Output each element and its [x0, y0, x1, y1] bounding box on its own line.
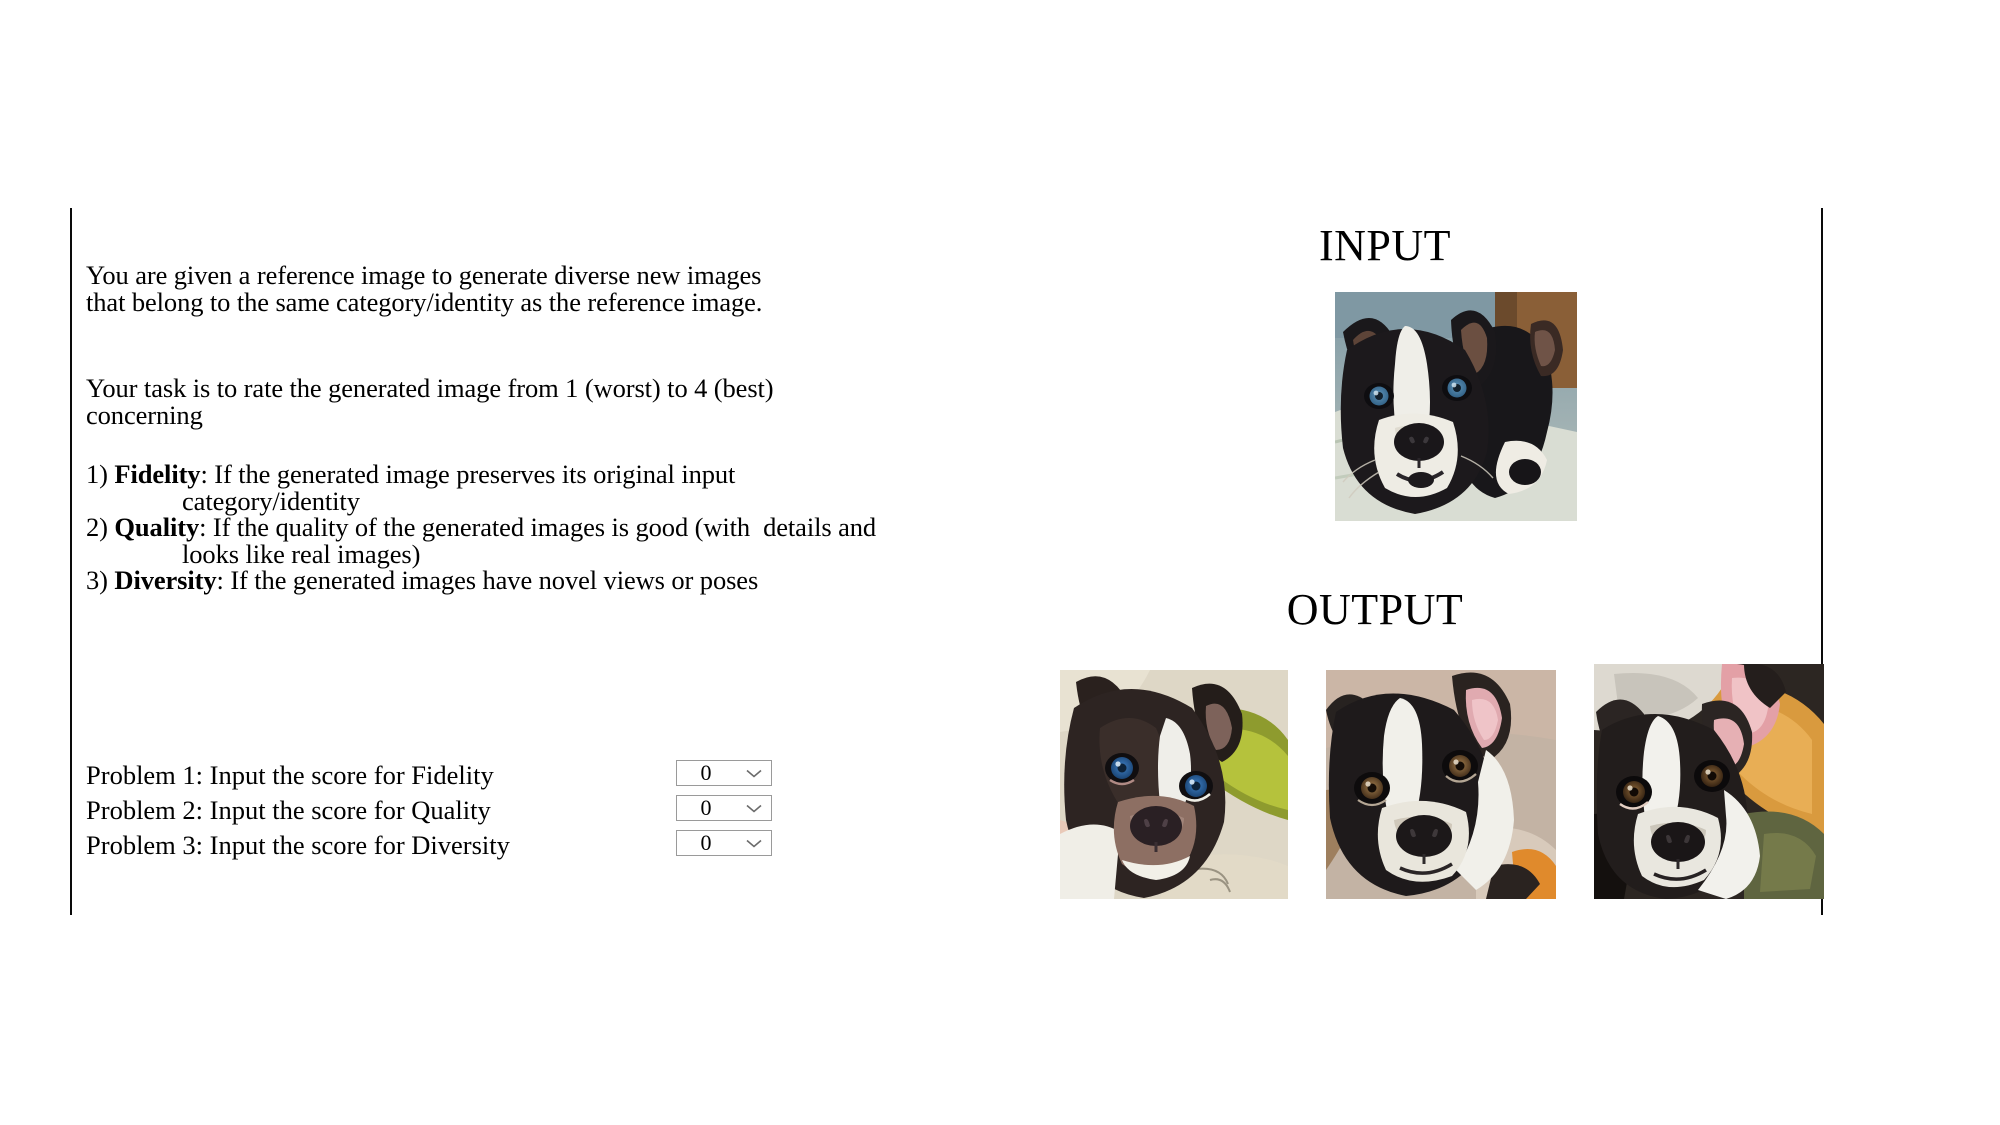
problem-row-1: Problem 1: Input the score for Fidelity …	[86, 758, 786, 793]
criterion-continuation: category/identity	[86, 488, 1086, 515]
intro-line-1: You are given a reference image to gener…	[86, 262, 1086, 289]
criterion-number: 3)	[86, 565, 108, 595]
score-value-diversity: 0	[677, 832, 743, 854]
problem-row-2: Problem 2: Input the score for Quality 0	[86, 793, 786, 828]
criterion-quality: 2) Quality: If the quality of the genera…	[86, 514, 1086, 567]
score-select-diversity[interactable]: 0	[676, 830, 772, 856]
criterion-term: Fidelity	[114, 459, 200, 489]
criterion-number: 1)	[86, 459, 108, 489]
intro-paragraph: You are given a reference image to gener…	[86, 262, 1086, 315]
output-photo-1	[1060, 670, 1288, 899]
score-select-quality[interactable]: 0	[676, 795, 772, 821]
problem-row-3: Problem 3: Input the score for Diversity…	[86, 828, 786, 863]
task-paragraph: Your task is to rate the generated image…	[86, 375, 1086, 428]
task-line-2: concerning	[86, 402, 1086, 429]
criterion-number: 2)	[86, 512, 108, 542]
chevron-down-icon	[743, 800, 765, 816]
chevron-down-icon	[743, 765, 765, 781]
task-line-1: Your task is to rate the generated image…	[86, 375, 1086, 402]
criterion-term: Quality	[114, 512, 199, 542]
criterion-diversity: 3) Diversity: If the generated images ha…	[86, 567, 1086, 594]
photo-boston-terrier-reference	[1335, 292, 1577, 521]
criterion-fidelity: 1) Fidelity: If the generated image pres…	[86, 461, 1086, 514]
input-reference-photo	[1335, 292, 1577, 521]
output-heading: OUTPUT	[1030, 588, 1720, 632]
problem-2-label: Problem 2: Input the score for Quality	[86, 797, 491, 824]
spacer	[86, 428, 1086, 461]
problem-1-label: Problem 1: Input the score for Fidelity	[86, 762, 494, 789]
score-value-quality: 0	[677, 797, 743, 819]
criterion-term: Diversity	[114, 565, 216, 595]
problems-section: Problem 1: Input the score for Fidelity …	[86, 758, 786, 863]
criterion-text: : If the quality of the generated images…	[199, 512, 876, 542]
score-select-fidelity[interactable]: 0	[676, 760, 772, 786]
instructions-panel: You are given a reference image to gener…	[86, 262, 1086, 594]
output-photo-3	[1594, 664, 1824, 899]
input-heading: INPUT	[1030, 224, 1740, 268]
criterion-continuation: looks like real images)	[86, 541, 1086, 568]
photo-boston-terrier-generated-3	[1594, 664, 1824, 899]
examples-panel: INPUT	[1030, 208, 1820, 915]
score-value-fidelity: 0	[677, 762, 743, 784]
photo-boston-terrier-generated-2	[1326, 670, 1556, 899]
output-photo-2	[1326, 670, 1556, 899]
criterion-text: : If the generated image preserves its o…	[200, 459, 735, 489]
chevron-down-icon	[743, 835, 765, 851]
photo-boston-terrier-generated-1	[1060, 670, 1288, 899]
intro-line-2: that belong to the same category/identit…	[86, 289, 1086, 316]
problem-3-label: Problem 3: Input the score for Diversity	[86, 832, 510, 859]
spacer	[86, 315, 1086, 375]
left-vertical-rule	[70, 208, 72, 915]
criterion-text: : If the generated images have novel vie…	[217, 565, 759, 595]
